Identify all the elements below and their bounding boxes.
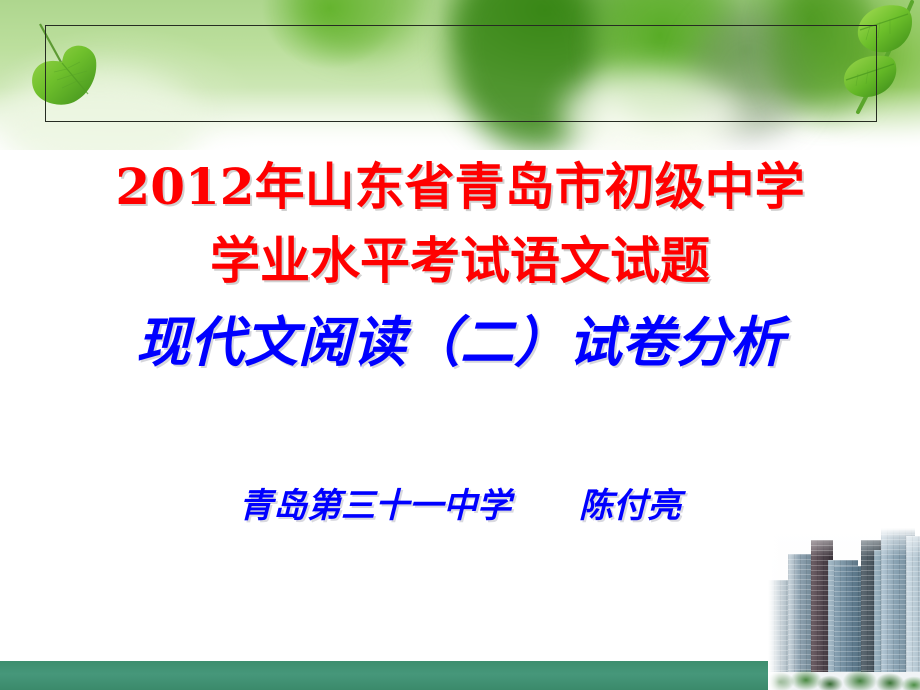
presentation-slide: 2012年山东省青岛市初级中学 学业水平考试语文试题 现代文阅读（二）试卷分析 … — [0, 0, 920, 690]
footer-green-bar — [0, 661, 781, 690]
skyline-trees — [768, 660, 920, 690]
building — [906, 536, 920, 672]
city-skyline-image — [768, 528, 920, 690]
banner-frame-rectangle — [45, 25, 877, 122]
title-block: 2012年山东省青岛市初级中学 学业水平考试语文试题 现代文阅读（二）试卷分析 — [0, 150, 920, 382]
subtitle-line: 现代文阅读（二）试卷分析 — [0, 302, 920, 382]
byline-text: 青岛第三十一中学 陈付亮 — [0, 478, 920, 527]
title-line-1: 2012年山东省青岛市初级中学 — [0, 150, 920, 224]
title-line-2: 学业水平考试语文试题 — [0, 224, 920, 298]
